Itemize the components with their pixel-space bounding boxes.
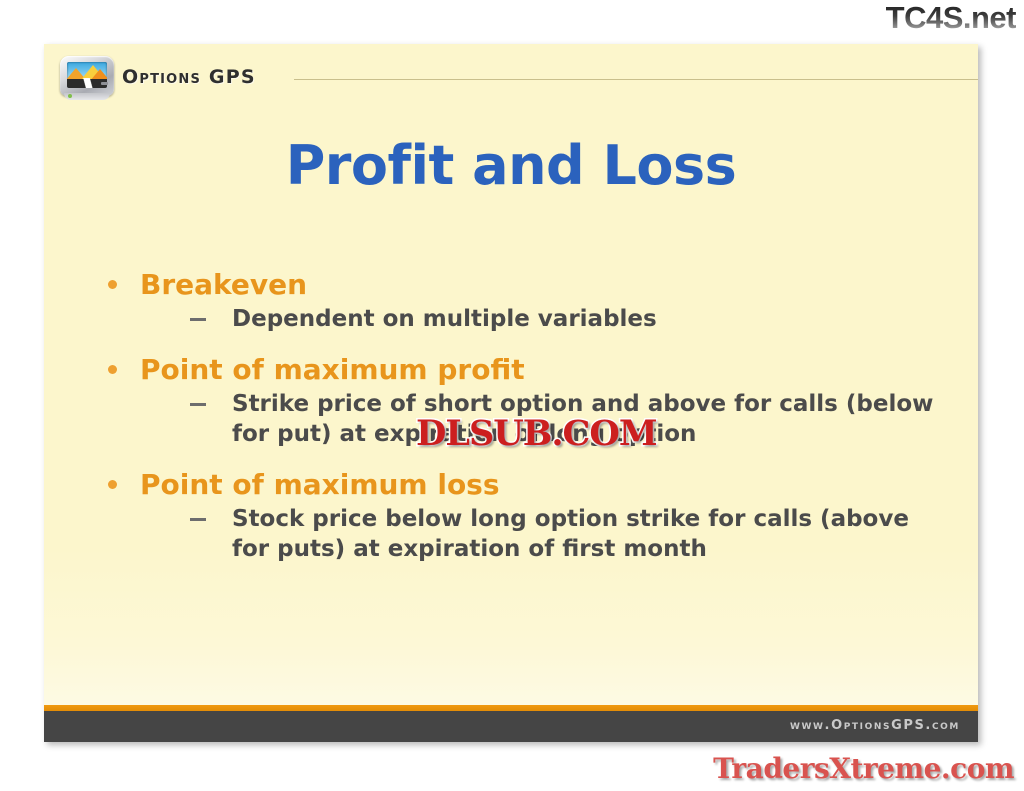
bullet-level2-text: Dependent on multiple variables (232, 306, 657, 332)
bullet-level1: Point of maximum loss (92, 466, 954, 503)
bullet-dash-icon (190, 518, 206, 521)
status-led-icon (68, 94, 72, 98)
bullet-level2: Stock price below long option strike for… (92, 505, 954, 565)
dlsub-watermark: DLSUB.COM (416, 413, 657, 454)
brand-wordmark: Options GPS (122, 66, 256, 88)
bullet-level2-text: Stock price below long option strike for… (232, 506, 909, 562)
slide-header: Options GPS (44, 44, 978, 106)
bullet-level1: Point of maximum profit (92, 351, 954, 388)
bullet-dot-icon (108, 480, 117, 489)
bullet-dash-icon (190, 318, 206, 321)
tc4s-brand-watermark: TC4S.net (886, 2, 1016, 33)
road-shape (71, 78, 105, 88)
bullet-dot-icon (108, 280, 117, 289)
slide-footer: www.OptionsGPS.com (44, 711, 978, 742)
header-divider (294, 79, 978, 80)
tradersxtreme-watermark: TradersXtreme.com (713, 752, 1014, 785)
bullet-level1-text: Point of maximum loss (140, 468, 500, 501)
gps-device-icon (60, 56, 114, 100)
bullet-level1-text: Point of maximum profit (140, 353, 525, 386)
bullet-dash-icon (190, 403, 206, 406)
bullet-level1: Breakeven (92, 266, 954, 303)
device-button-icon (101, 82, 108, 85)
bullet-level1-text: Breakeven (140, 268, 307, 301)
page-title: Profit and Loss (44, 134, 978, 197)
bullet-dot-icon (108, 365, 117, 374)
bullet-level2: Dependent on multiple variables (92, 305, 954, 335)
footer-url-text: www.OptionsGPS.com (790, 718, 960, 733)
presentation-slide: Options GPS Profit and Loss Breakeven De… (44, 44, 978, 742)
